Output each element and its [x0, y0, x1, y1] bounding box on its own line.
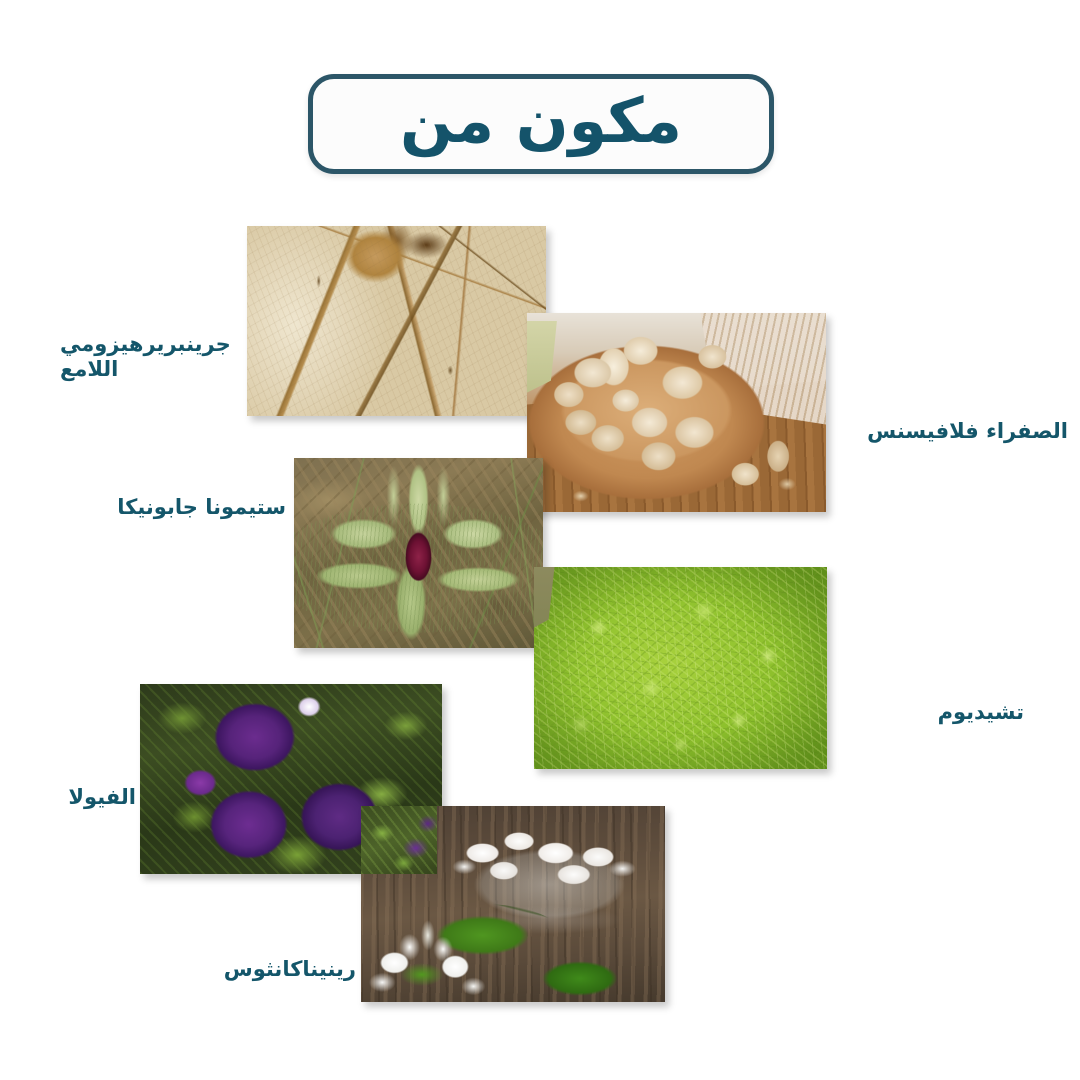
ingredient-label-greenbrier: جرينبريرهيزومي اللامع: [60, 332, 280, 382]
ingredient-label-astragalus: الصفراء فلافيسنس: [836, 419, 1068, 444]
page-title-box: مكون من: [308, 74, 774, 174]
ingredient-label-rhinacanthus: رينيناكانثوس: [196, 957, 356, 982]
stemona-japonica-photo: [294, 458, 543, 648]
poster-canvas: مكون من: [0, 0, 1080, 1080]
page-title: مكون من: [400, 90, 682, 152]
photo-layer-shade: [534, 567, 827, 769]
rhinacanthus-jasmine-photo: [361, 806, 665, 1002]
astragalus-slices-photo: [527, 313, 826, 512]
ingredient-label-viola: الفيولا: [58, 785, 136, 810]
ingredient-label-cnidium: تشيديوم: [844, 700, 1024, 725]
photo-layer-loose: [527, 313, 826, 512]
greenbrier-rhizome-photo: [247, 226, 546, 416]
photo-layer-overlap-detail: [361, 806, 437, 874]
cnidium-foliage-photo: [534, 567, 827, 769]
photo-layer-grain: [247, 226, 546, 416]
photo-layer-center: [294, 458, 543, 648]
ingredient-label-stemona: ستيمونا جابونيكا: [100, 495, 286, 520]
photo-layer-overlap-corner: [361, 806, 437, 874]
